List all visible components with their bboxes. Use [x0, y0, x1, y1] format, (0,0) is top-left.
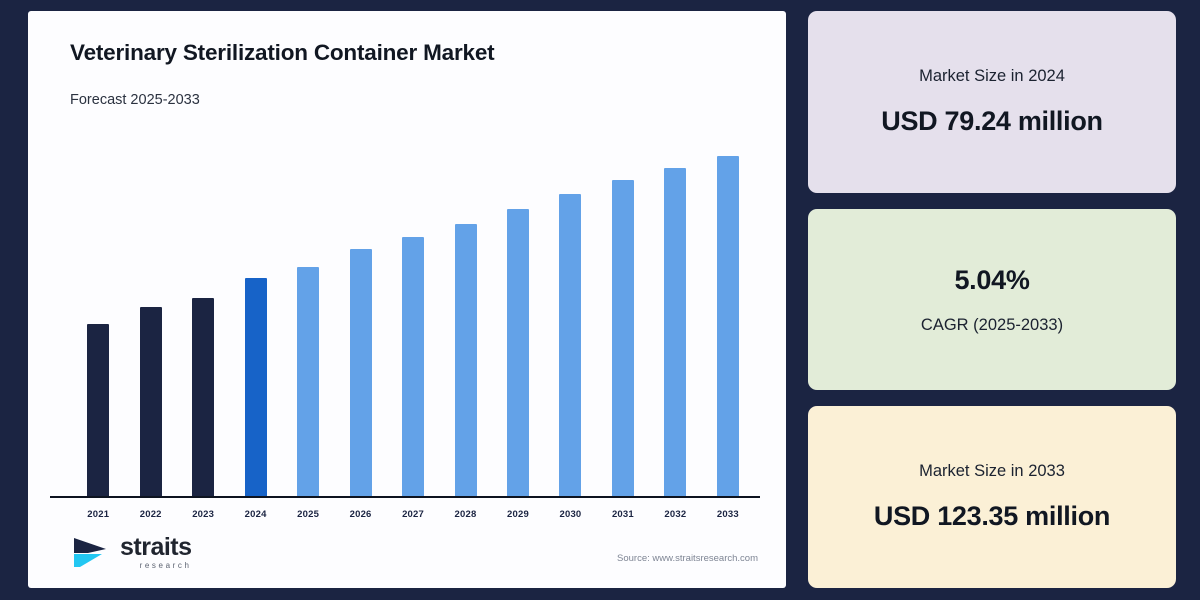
source-note: Source: www.straitsresearch.com [617, 553, 758, 570]
x-tick-2021: 2021 [72, 509, 124, 520]
x-tick-2030: 2030 [544, 509, 596, 520]
x-tick-2024: 2024 [229, 509, 281, 520]
bar-slot [597, 124, 649, 496]
bar-slot [439, 124, 491, 496]
x-axis-tick-labels: 2021202220232024202520262027202820292030… [72, 509, 754, 520]
plot-area [72, 124, 754, 496]
stat-card-market-size-2033: Market Size in 2033USD 123.35 million [808, 406, 1176, 588]
bar-slot [387, 124, 439, 496]
stat-card-cagr: 5.04%CAGR (2025-2033) [808, 209, 1176, 391]
bar-slot [702, 124, 754, 496]
stat-card-label: CAGR (2025-2033) [921, 316, 1063, 335]
chart-subtitle: Forecast 2025-2033 [50, 92, 760, 108]
bar-slot [544, 124, 596, 496]
bar-2023 [192, 298, 214, 496]
bar-series [72, 124, 754, 496]
bar-slot [229, 124, 281, 496]
bar-slot [282, 124, 334, 496]
infographic-root: Veterinary Sterilization Container Marke… [0, 0, 1200, 600]
x-tick-2032: 2032 [649, 509, 701, 520]
bar-slot [177, 124, 229, 496]
bar-2022 [140, 307, 162, 496]
stat-card-market-size-2024: Market Size in 2024USD 79.24 million [808, 11, 1176, 193]
bar-2026 [350, 249, 372, 496]
bar-2025 [297, 267, 319, 496]
chart-footer: straits research Source: www.straitsrese… [72, 534, 758, 570]
x-tick-2029: 2029 [492, 509, 544, 520]
bar-2033 [717, 156, 739, 496]
brand-logo: straits research [72, 534, 192, 570]
bar-slot [334, 124, 386, 496]
x-tick-2033: 2033 [702, 509, 754, 520]
x-tick-2023: 2023 [177, 509, 229, 520]
stat-cards: Market Size in 2024USD 79.24 million5.04… [808, 11, 1176, 588]
bar-2031 [612, 180, 634, 496]
bar-2032 [664, 168, 686, 496]
stat-card-label: Market Size in 2033 [919, 462, 1065, 481]
bar-2029 [507, 209, 529, 496]
bar-slot [649, 124, 701, 496]
x-axis-line [50, 496, 760, 499]
page-title: Veterinary Sterilization Container Marke… [50, 39, 760, 66]
brand-tagline: research [120, 562, 192, 570]
x-tick-2027: 2027 [387, 509, 439, 520]
bar-slot [124, 124, 176, 496]
x-tick-2026: 2026 [334, 509, 386, 520]
stat-card-value: USD 123.35 million [874, 501, 1110, 532]
bar-2030 [559, 194, 581, 496]
x-tick-2031: 2031 [597, 509, 649, 520]
x-tick-2028: 2028 [439, 509, 491, 520]
brand-name: straits [120, 535, 192, 560]
bar-2028 [455, 224, 477, 496]
bar-2021 [87, 324, 109, 496]
chart-panel: Veterinary Sterilization Container Marke… [28, 11, 786, 588]
bar-slot [492, 124, 544, 496]
bar-2024 [245, 278, 267, 496]
bar-2027 [402, 237, 424, 496]
stat-card-value: 5.04% [954, 265, 1029, 296]
straits-arrow-logo-icon [72, 534, 112, 570]
stat-card-value: USD 79.24 million [881, 106, 1102, 137]
x-tick-2025: 2025 [282, 509, 334, 520]
stat-card-label: Market Size in 2024 [919, 67, 1065, 86]
plot-wrap: 2021202220232024202520262027202820292030… [50, 118, 760, 572]
bar-slot [72, 124, 124, 496]
x-tick-2022: 2022 [124, 509, 176, 520]
brand-logo-text: straits research [120, 535, 192, 570]
